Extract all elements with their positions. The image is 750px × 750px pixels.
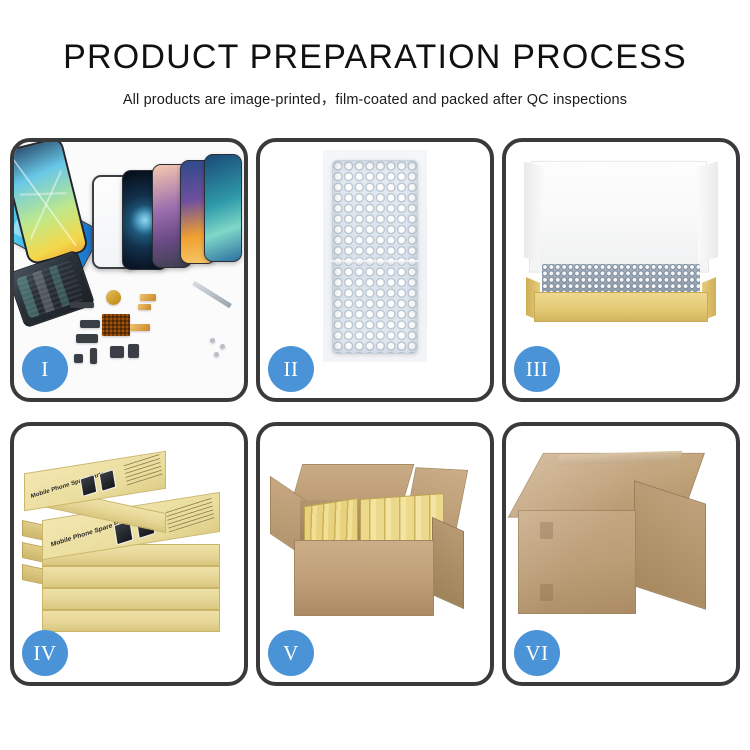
step-panel-3-inner-box[interactable]: III — [502, 138, 740, 402]
retail-box-front-4 — [42, 588, 220, 610]
inner-box-bubble-contents — [542, 264, 700, 294]
retail-box-phone-image-1a — [80, 474, 98, 497]
part-vibrator — [128, 344, 139, 358]
page-subtitle: All products are image-printed，film-coat… — [0, 74, 750, 109]
part-speaker-gold — [106, 290, 121, 305]
part-sim-tray — [90, 348, 97, 364]
part-flex-cable-2 — [138, 304, 151, 310]
retail-box-spec-text-1 — [124, 453, 163, 485]
part-connector-bar — [70, 302, 94, 308]
step-badge-5: V — [268, 630, 314, 676]
retail-box-front-5 — [42, 610, 220, 632]
tweezers-tool — [192, 281, 232, 309]
inner-box-lid-flap-right — [698, 162, 718, 263]
phone-screen-teal-swirl — [204, 154, 242, 262]
retail-box-spec-text-2 — [165, 495, 214, 533]
sealed-carton-notch-bottom — [540, 584, 553, 601]
sealed-carton-side — [634, 480, 706, 609]
step-panel-6-sealed-carton[interactable]: VI — [502, 422, 740, 686]
part-camera-module — [110, 346, 124, 358]
part-flex-cable-3 — [130, 324, 150, 331]
step-badge-3: III — [514, 346, 560, 392]
inner-box-foam-liner — [540, 200, 698, 266]
bubble-wrap-pouch — [332, 160, 418, 354]
carton-side-right — [432, 517, 464, 609]
part-bracket-1 — [80, 320, 100, 328]
step-panel-4-retail-box-stack[interactable]: Mobile Phone Spare Parts Mobile Phone Sp… — [10, 422, 248, 686]
screw-2 — [220, 344, 225, 349]
page-title: PRODUCT PREPARATION PROCESS — [0, 0, 750, 74]
phone-cracked-screen — [14, 142, 89, 266]
part-flex-cable-1 — [140, 294, 156, 301]
carton-front-wall — [294, 540, 434, 616]
retail-box-stack: Mobile Phone Spare Parts Mobile Phone Sp… — [20, 452, 240, 642]
part-connector-grid — [102, 314, 130, 336]
step-badge-2: II — [268, 346, 314, 392]
bubble-wrap-seam — [331, 260, 419, 264]
sealed-carton-notch-top — [540, 522, 553, 539]
step-panel-5-open-carton[interactable]: V — [256, 422, 494, 686]
retail-box-front-3 — [42, 566, 220, 588]
sealed-carton-front — [518, 510, 636, 614]
retail-box-phone-image-1b — [99, 469, 117, 492]
header: PRODUCT PREPARATION PROCESS All products… — [0, 0, 750, 109]
step-panel-1-products[interactable]: I — [10, 138, 248, 402]
screw-3 — [214, 352, 219, 357]
process-step-grid: I II III — [10, 138, 740, 686]
screw-1 — [210, 338, 215, 343]
product-preparation-infographic: PRODUCT PREPARATION PROCESS All products… — [0, 0, 750, 750]
step-panel-2-bubble-wrap[interactable]: II — [256, 138, 494, 402]
step-badge-4: IV — [22, 630, 68, 676]
part-screw-cap — [74, 354, 83, 363]
inner-box-front-wall — [534, 292, 708, 322]
step-badge-6: VI — [514, 630, 560, 676]
part-bracket-2 — [76, 334, 98, 343]
step-badge-1: I — [22, 346, 68, 392]
